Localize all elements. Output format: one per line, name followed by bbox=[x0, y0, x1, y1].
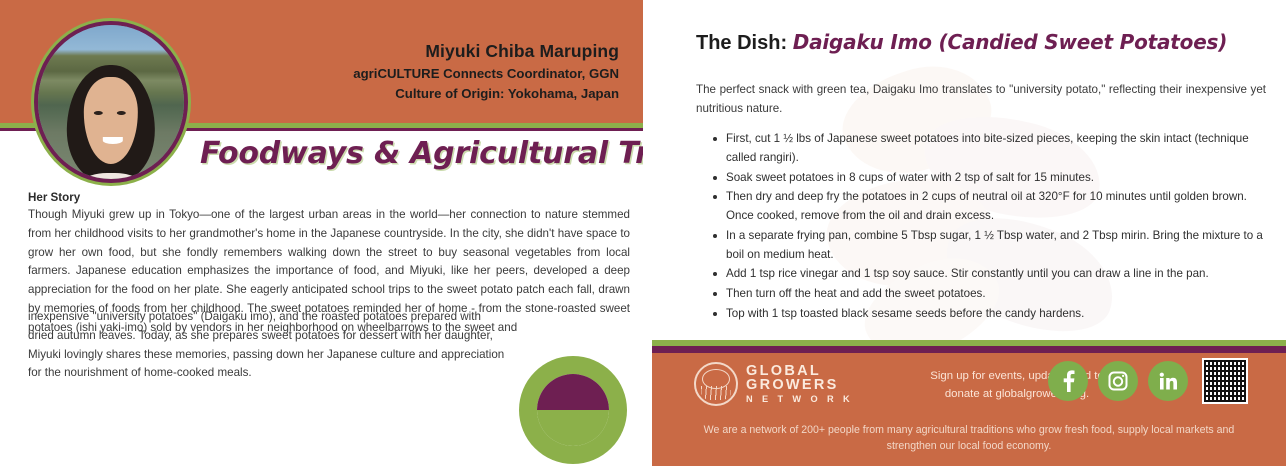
flyer-page: Miyuki Chiba Maruping agriCULTURE Connec… bbox=[0, 0, 1286, 466]
qr-code-pattern bbox=[1204, 360, 1246, 402]
portrait-person bbox=[63, 65, 159, 183]
person-role: agriCULTURE Connects Coordinator, GGN bbox=[353, 64, 619, 84]
portrait-body bbox=[65, 173, 158, 183]
footer: GLOBAL GROWERS N E T W O R K Sign up for… bbox=[652, 340, 1286, 466]
person-name-block: Miyuki Chiba Maruping agriCULTURE Connec… bbox=[353, 40, 619, 105]
seal-tree-half bbox=[537, 374, 609, 410]
list-item: Top with 1 tsp toasted black sesame seed… bbox=[712, 305, 1268, 324]
footer-logo-line1: GLOBAL bbox=[746, 364, 853, 379]
page-title: Foodways & Agricultural Traditions bbox=[200, 136, 636, 171]
dish-heading: The Dish: Daigaku Imo (Candied Sweet Pot… bbox=[696, 30, 1227, 55]
list-item: In a separate frying pan, combine 5 Tbsp… bbox=[712, 227, 1268, 265]
recipe-step-list: First, cut 1 ½ lbs of Japanese sweet pot… bbox=[712, 130, 1268, 325]
global-growers-logo-icon bbox=[694, 362, 738, 406]
list-item: Soak sweet potatoes in 8 cups of water w… bbox=[712, 169, 1268, 188]
story-heading: Her Story bbox=[28, 191, 80, 204]
footer-logo-line3: N E T W O R K bbox=[746, 395, 853, 404]
portrait-eye-left bbox=[94, 111, 103, 115]
list-item: Then turn off the heat and add the sweet… bbox=[712, 285, 1268, 304]
seal-field-half bbox=[537, 410, 609, 446]
story-body-continued: inexpensive "university potatoes" (Daiga… bbox=[28, 308, 508, 383]
footer-tagline: We are a network of 200+ people from man… bbox=[694, 422, 1244, 455]
instagram-icon[interactable] bbox=[1098, 361, 1138, 401]
person-origin: Culture of Origin: Yokohama, Japan bbox=[353, 84, 619, 104]
facebook-icon[interactable] bbox=[1048, 361, 1088, 401]
footer-rule-purple bbox=[652, 346, 1286, 353]
list-item: First, cut 1 ½ lbs of Japanese sweet pot… bbox=[712, 130, 1268, 168]
list-item: Then dry and deep fry the potatoes in 2 … bbox=[712, 188, 1268, 226]
portrait-mouth bbox=[102, 137, 122, 144]
footer-logo-text: GLOBAL GROWERS N E T W O R K bbox=[746, 364, 853, 405]
avatar-ring bbox=[34, 21, 188, 183]
global-growers-seal-icon bbox=[519, 356, 627, 464]
footer-logo: GLOBAL GROWERS N E T W O R K bbox=[694, 362, 853, 406]
linkedin-icon[interactable] bbox=[1148, 361, 1188, 401]
footer-social-links bbox=[1048, 358, 1248, 404]
left-panel: Miyuki Chiba Maruping agriCULTURE Connec… bbox=[0, 0, 643, 466]
qr-code[interactable] bbox=[1202, 358, 1248, 404]
list-item: Add 1 tsp rice vinegar and 1 tsp soy sau… bbox=[712, 265, 1268, 284]
dish-intro: The perfect snack with green tea, Daigak… bbox=[696, 80, 1266, 118]
dish-heading-name: Daigaku Imo (Candied Sweet Potatoes) bbox=[793, 30, 1228, 54]
right-panel: The Dish: Daigaku Imo (Candied Sweet Pot… bbox=[652, 0, 1286, 466]
dish-heading-label: The Dish: bbox=[696, 32, 787, 54]
footer-logo-line2: GROWERS bbox=[746, 378, 853, 393]
seal-inner bbox=[537, 374, 609, 446]
person-name: Miyuki Chiba Maruping bbox=[353, 40, 619, 64]
portrait-eye-right bbox=[117, 111, 126, 115]
avatar bbox=[31, 18, 191, 186]
